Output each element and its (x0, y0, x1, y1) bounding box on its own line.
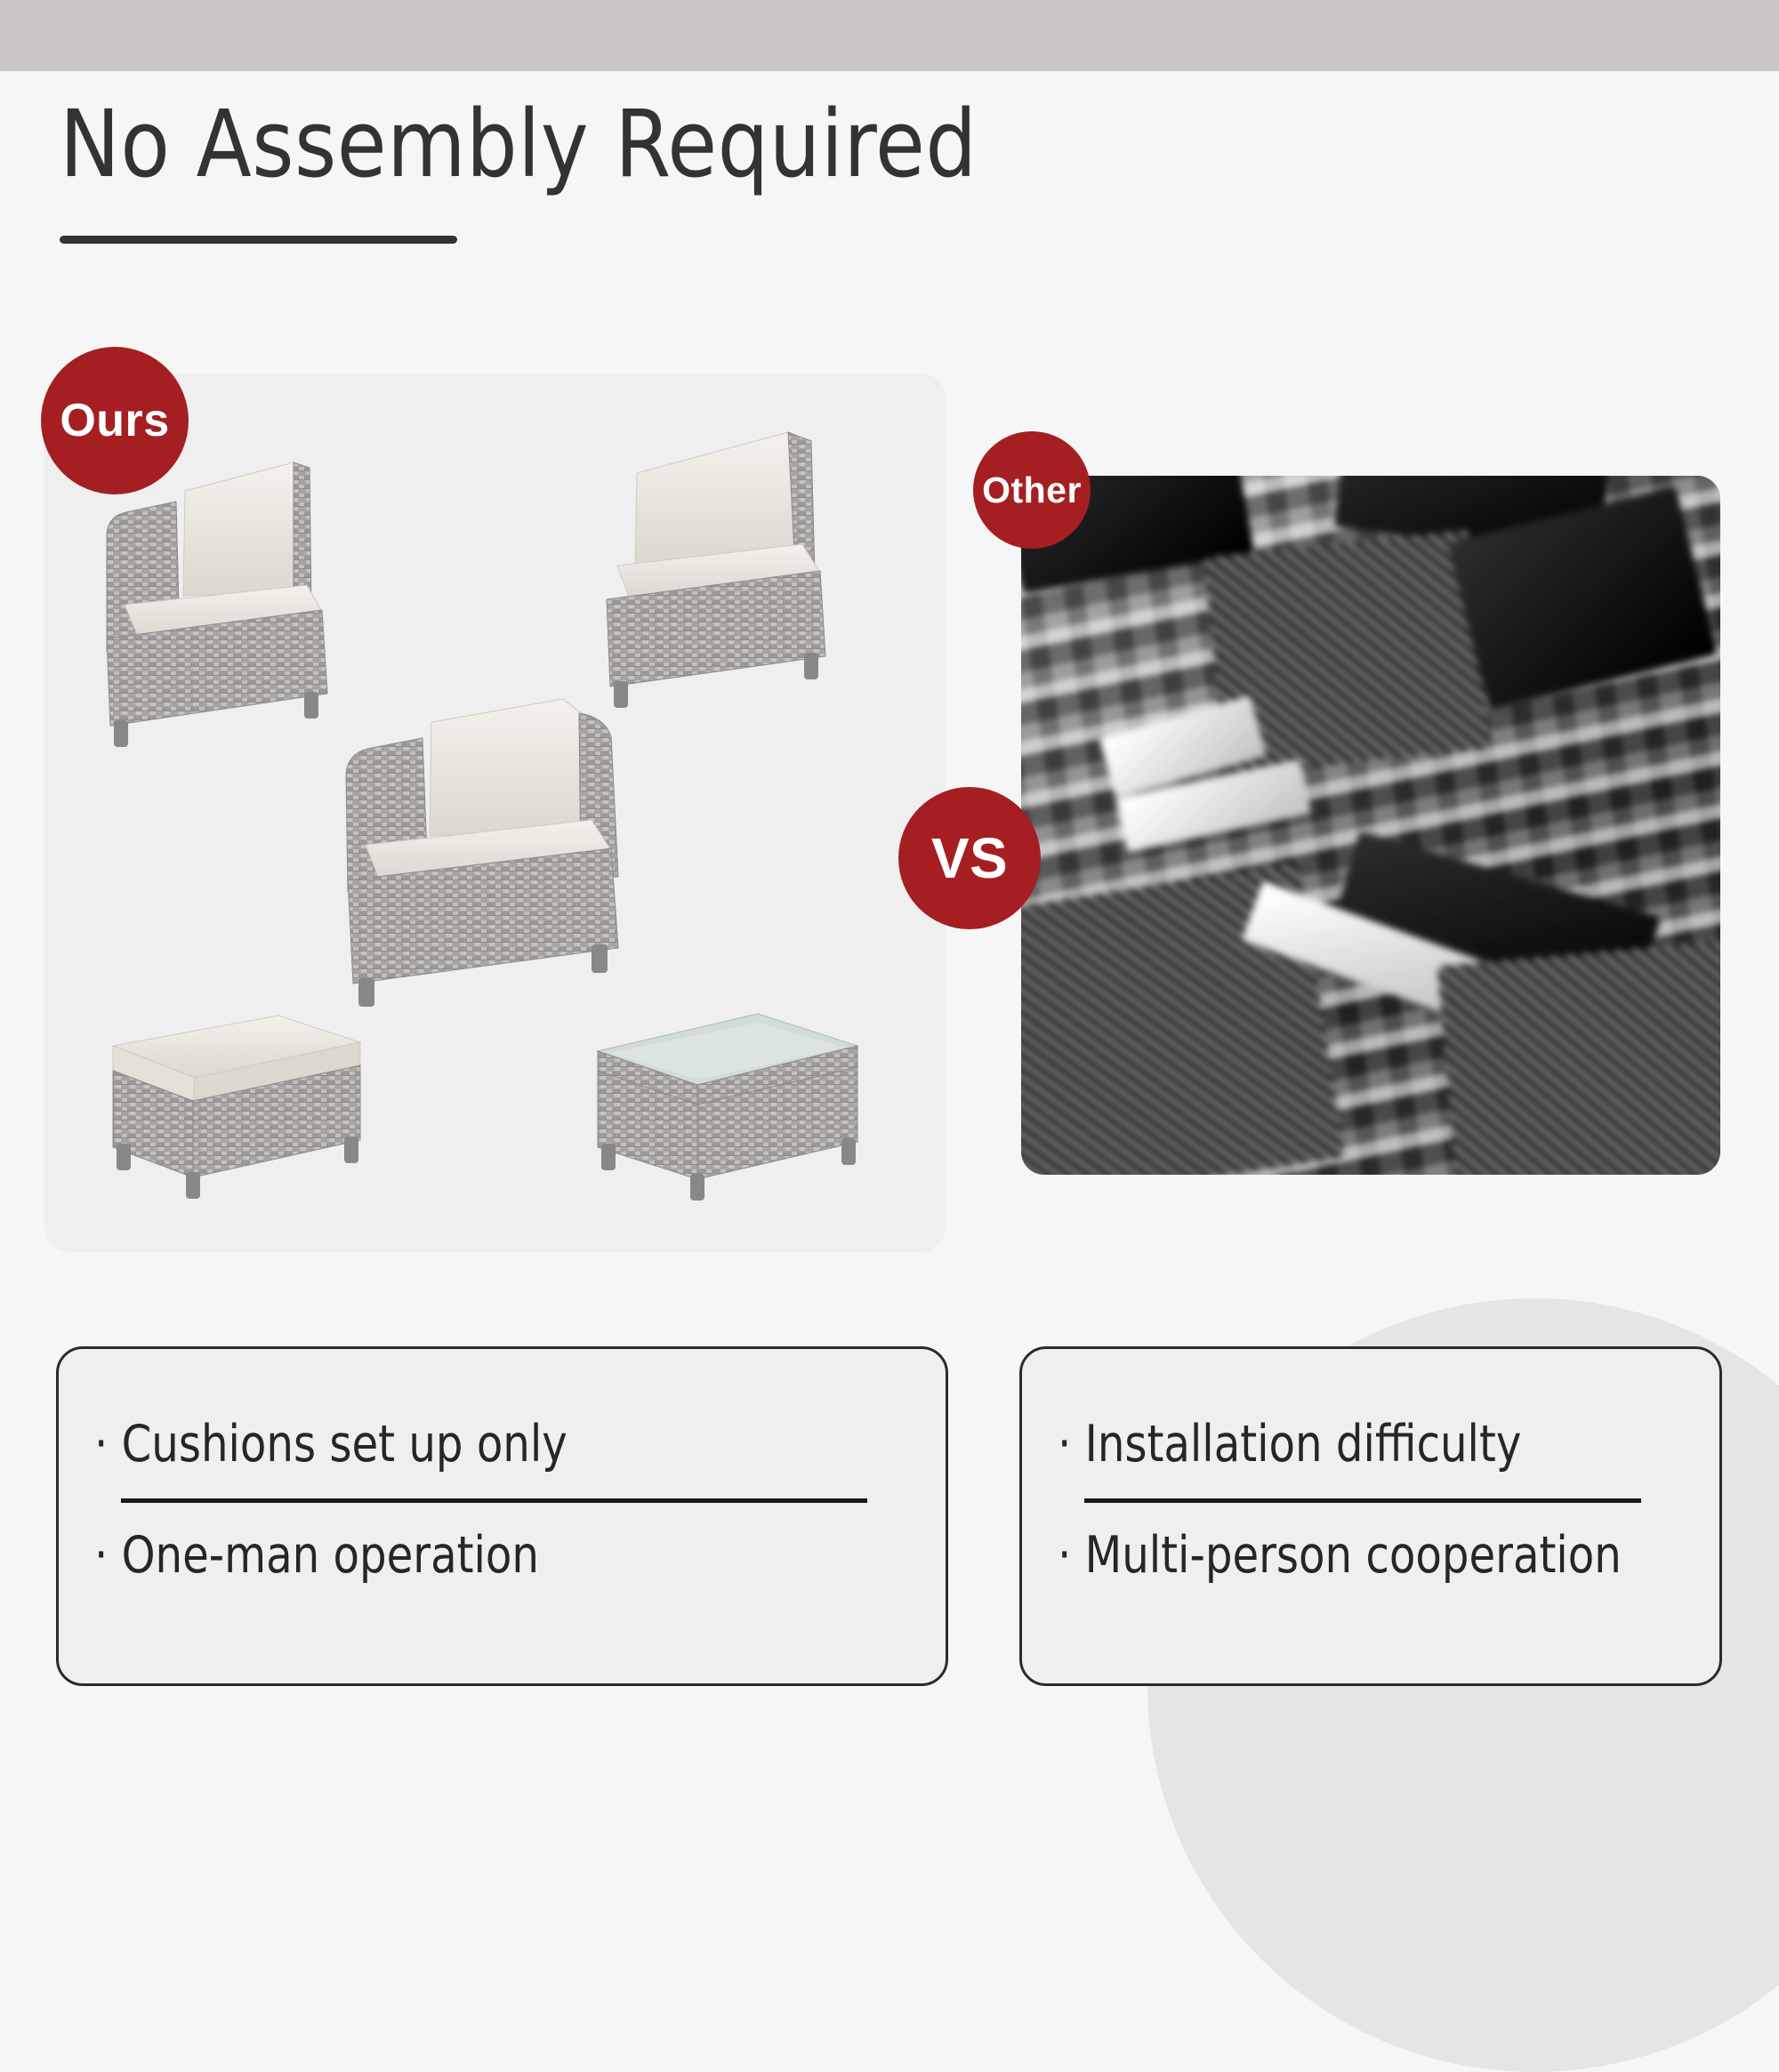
other-feature-line-2: · Multi-person cooperation (1058, 1526, 1631, 1585)
badge-vs: VS (898, 787, 1041, 929)
page-title: No Assembly Required (60, 96, 978, 193)
comparison-row (0, 373, 1779, 1281)
ours-feature-divider (121, 1498, 867, 1503)
ottoman-image (93, 996, 387, 1209)
other-feature-box: · Installation difficulty · Multi-person… (1019, 1346, 1722, 1686)
badge-other: Other (973, 431, 1091, 549)
top-bar (0, 0, 1779, 71)
lounge-armchair-center-image (325, 667, 734, 1049)
other-feature-divider (1084, 1498, 1641, 1503)
ours-feature-line-1: · Cushions set up only (94, 1415, 846, 1474)
ours-feature-line-2: · One-man operation (94, 1526, 846, 1585)
feature-boxes-row: · Cushions set up only · One-man operati… (0, 1346, 1779, 1720)
badge-ours: Ours (41, 347, 189, 494)
title-underline (60, 236, 457, 244)
ours-product-panel (44, 373, 946, 1252)
disassembled-parts-photo (1021, 476, 1720, 1175)
glass-top-coffee-table-image (578, 996, 881, 1218)
other-feature-line-1: · Installation difficulty (1058, 1415, 1631, 1474)
other-comparison-photo (1021, 476, 1720, 1175)
heading-block: No Assembly Required (60, 96, 1005, 244)
ours-feature-box: · Cushions set up only · One-man operati… (56, 1346, 948, 1686)
